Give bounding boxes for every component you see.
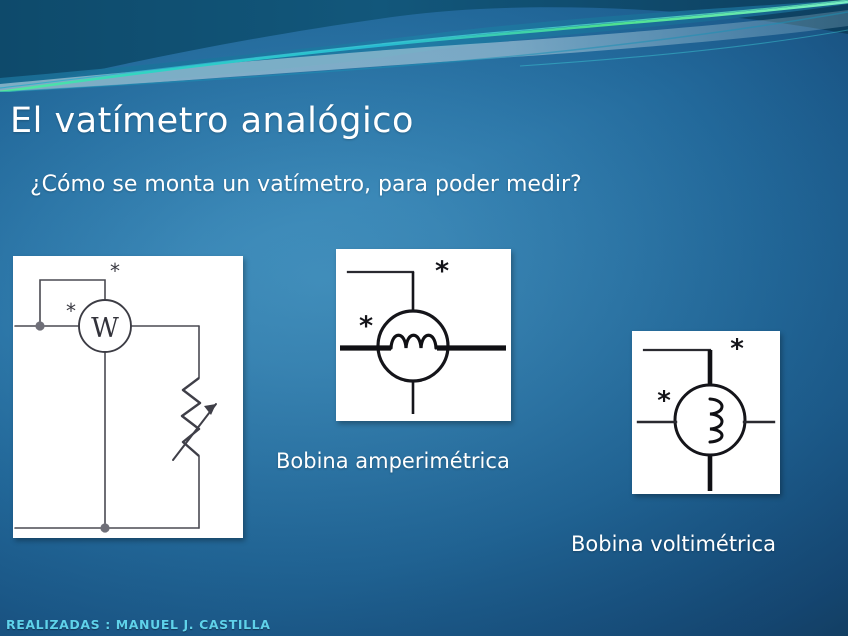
slide-subtitle: ¿Cómo se monta un vatímetro, para poder … [30,172,582,197]
figure-amperimetric-coil: * * [336,249,511,421]
page-title: El vatímetro analógico [10,101,414,141]
polarity-asterisk-current: * [110,259,120,283]
caption-voltimetric-coil: Bobina voltimétrica [571,532,776,556]
polarity-asterisk-left: * [359,311,373,342]
variable-arrow-head [204,404,216,415]
polarity-asterisk-top: * [730,334,744,364]
figure-voltimetric-coil: * * [632,331,780,494]
polarity-asterisk-voltage: * [66,299,76,323]
polarity-asterisk-left: * [657,386,671,416]
header-decoration [0,0,848,92]
coil-circle [675,385,745,455]
polarity-asterisk-top: * [435,256,449,287]
junction-node-bottom [100,523,109,532]
wattmeter-letter: W [91,313,119,344]
footer-credit: REALIZADAS : MANUEL J. CASTILLA [6,617,271,632]
presentation-slide: El vatímetro analógico ¿Cómo se monta un… [0,0,848,636]
figure-wattmeter-circuit: W * * [13,256,243,538]
caption-amperimetric-coil: Bobina amperimétrica [276,449,510,473]
junction-node-left [35,321,44,330]
